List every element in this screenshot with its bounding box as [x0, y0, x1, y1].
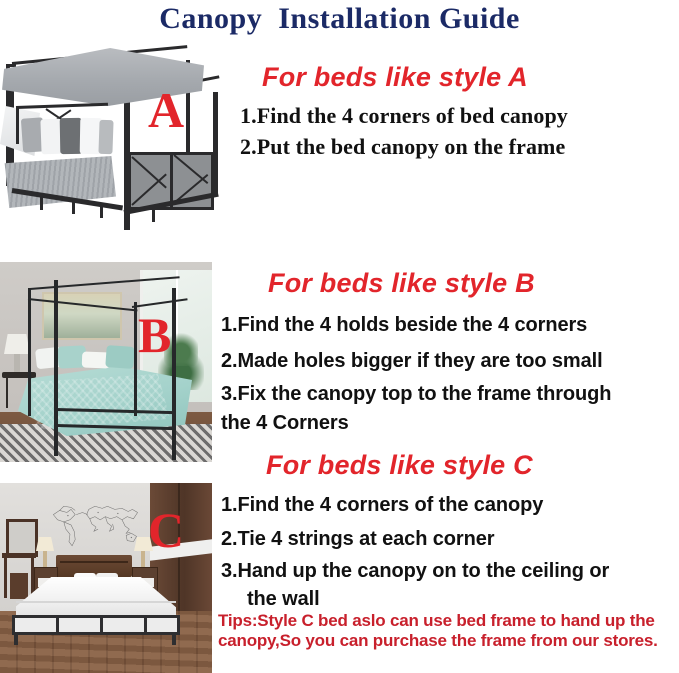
mattress-seam: [16, 601, 176, 603]
wall-mirror: [6, 519, 38, 557]
style-a-steps: 1.Find the 4 corners of bed canopy 2.Put…: [240, 100, 568, 162]
bed-leg: [152, 210, 155, 222]
nightstand-leg: [6, 378, 8, 408]
style-b-step-3: 3.Fix the canopy top to the frame throug…: [221, 379, 611, 409]
canopy-post: [134, 302, 137, 416]
style-a-step-1: 1.Find the 4 corners of bed canopy: [240, 100, 568, 131]
style-c-step-3-continued: the wall: [221, 586, 609, 612]
style-b-photo: [0, 262, 212, 462]
style-b-heading: For beds like style B: [268, 268, 535, 299]
canopy-post: [28, 288, 31, 416]
style-a-step-2: 2.Put the bed canopy on the frame: [240, 131, 568, 162]
headboard-top-rail: [16, 103, 108, 109]
style-letter-a: A: [148, 85, 184, 135]
bed-leg: [40, 196, 43, 210]
headboard-shelf-line: [60, 561, 128, 563]
installation-guide-page: Canopy Installation Guide: [0, 0, 679, 673]
page-title: Canopy Installation Guide: [0, 2, 679, 36]
bed-leg: [72, 200, 75, 214]
table-lamp-stem: [141, 551, 145, 567]
bed-frame-divider: [56, 615, 59, 635]
canopy-post: [54, 280, 58, 456]
style-b-step-2: 2.Made holes bigger if they are too smal…: [221, 343, 611, 379]
headboard-left-rail: [16, 106, 19, 144]
bed-leg: [100, 204, 103, 218]
table-lamp-shade: [4, 334, 30, 354]
table-lamp-base: [14, 354, 20, 372]
pillow: [105, 345, 134, 369]
style-b-step-3-continued: the 4 Corners: [221, 409, 611, 437]
style-a-heading: For beds like style A: [262, 62, 528, 93]
bed-frame-leg: [172, 633, 176, 645]
style-c-step-2: 2.Tie 4 strings at each corner: [221, 522, 609, 556]
style-c-step-1: 1.Find the 4 corners of the canopy: [221, 488, 609, 522]
style-c-heading: For beds like style C: [266, 450, 533, 481]
bed-frame-leg: [14, 633, 18, 645]
style-a-illustration: [0, 48, 228, 244]
desk-chair: [10, 573, 28, 599]
style-c-step-3: 3.Hand up the canopy on to the ceiling o…: [221, 556, 609, 586]
bed-frame-divider: [100, 615, 103, 635]
platform-bed-frame: [12, 615, 180, 635]
style-c-tips: Tips:Style C bed aslo can use bed frame …: [218, 611, 670, 651]
table-lamp-shade: [36, 537, 54, 551]
canopy-post: [172, 288, 176, 460]
pillow: [98, 120, 113, 154]
table-lamp-stem: [43, 551, 47, 567]
world-map-wall-decal: [44, 499, 148, 551]
desk-leg: [4, 558, 7, 598]
bed-frame-divider: [144, 615, 147, 635]
style-letter-c: C: [148, 505, 184, 555]
style-b-steps: 1.Find the 4 holds beside the 4 corners …: [221, 307, 611, 437]
style-c-steps: 1.Find the 4 corners of the canopy 2.Tie…: [221, 488, 609, 612]
style-letter-b: B: [138, 310, 171, 360]
style-b-step-1: 1.Find the 4 holds beside the 4 corners: [221, 307, 611, 343]
